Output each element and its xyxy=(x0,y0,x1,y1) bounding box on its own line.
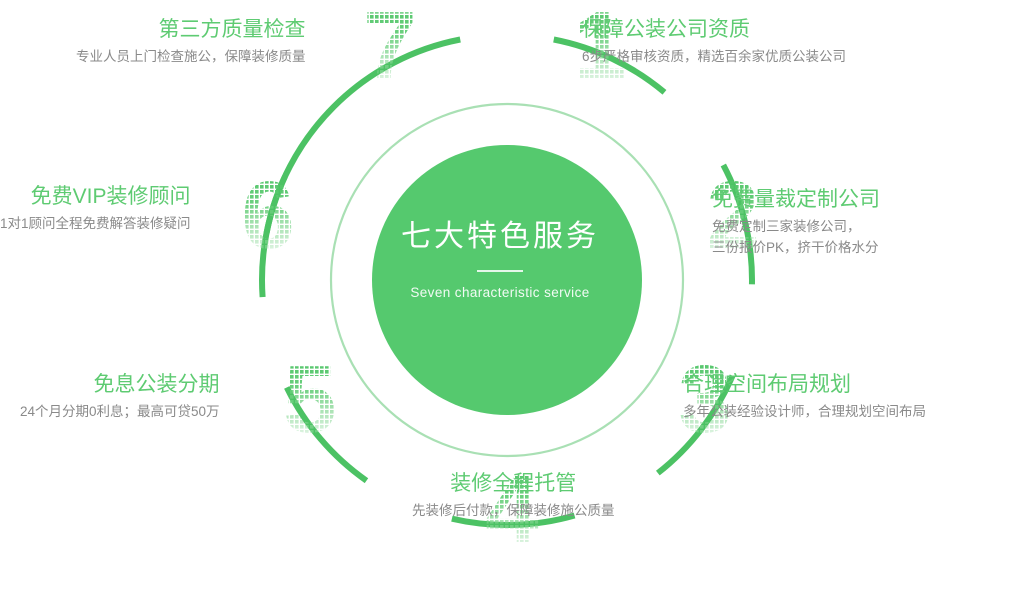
service-item-2-texts: 免费量裁定制公司 免费定制三家装修公司，三份报价PK，挤干价格水分 xyxy=(712,178,880,259)
service-item-3-title: 合理空间布局规划 xyxy=(683,373,926,397)
service-item-2-desc-line-2: 三份报价PK，挤干价格水分 xyxy=(712,238,880,259)
service-item-4-desc: 先装修后付款，保障装修施公质量 xyxy=(412,501,615,522)
service-item-1-desc: 6步严格审核资质，精选百余家优质公装公司 xyxy=(582,47,846,68)
service-item-6-texts: 免费VIP装修顾问 1对1顾问全程免费解答装修疑问 xyxy=(0,175,191,235)
service-item-7-texts: 第三方质量检查 专业人员上门检查施公，保障装修质量 xyxy=(76,8,306,68)
service-item-6[interactable]: 免费VIP装修顾问 1对1顾问全程免费解答装修疑问 xyxy=(0,175,191,235)
service-item-7-desc-line-1: 专业人员上门检查施公，保障装修质量 xyxy=(76,47,306,68)
service-item-7[interactable]: 第三方质量检查 专业人员上门检查施公，保障装修质量 xyxy=(76,8,306,68)
service-item-5-title: 免息公装分期 xyxy=(20,373,220,397)
service-item-7-desc: 专业人员上门检查施公，保障装修质量 xyxy=(76,47,306,68)
halftone-numeral-6-icon: 6 xyxy=(241,162,294,269)
service-item-4-texts: 装修全程托管 先装修后付款，保障装修施公质量 xyxy=(412,472,615,522)
service-item-3-texts: 合理空间布局规划 多年公装经验设计师，合理规划空间布局 xyxy=(683,363,926,423)
service-item-3-desc-line-1: 多年公装经验设计师，合理规划空间布局 xyxy=(683,402,926,423)
service-item-7-title: 第三方质量检查 xyxy=(76,18,306,42)
service-item-3[interactable]: 合理空间布局规划 多年公装经验设计师，合理规划空间布局 xyxy=(683,363,926,423)
halftone-numeral-5-icon: 5 xyxy=(283,346,336,453)
service-item-2-title: 免费量裁定制公司 xyxy=(712,188,880,212)
service-item-6-desc: 1对1顾问全程免费解答装修疑问 xyxy=(0,214,191,235)
service-item-2[interactable]: 免费量裁定制公司 免费定制三家装修公司，三份报价PK，挤干价格水分 xyxy=(712,178,880,259)
halftone-numeral-7-icon: 7 xyxy=(363,0,416,99)
service-item-5-desc: 24个月分期0利息；最高可贷50万 xyxy=(20,402,220,423)
service-item-1-texts: 保障公装公司资质 6步严格审核资质，精选百余家优质公装公司 xyxy=(582,8,846,68)
service-item-6-desc-line-1: 1对1顾问全程免费解答装修疑问 xyxy=(0,214,191,235)
service-item-6-title: 免费VIP装修顾问 xyxy=(0,185,191,209)
service-item-2-desc-line-1: 免费定制三家装修公司， xyxy=(712,217,880,238)
service-item-2-desc: 免费定制三家装修公司，三份报价PK，挤干价格水分 xyxy=(712,217,880,259)
service-item-4-title: 装修全程托管 xyxy=(412,472,615,496)
service-item-3-desc: 多年公装经验设计师，合理规划空间布局 xyxy=(683,402,926,423)
service-item-5[interactable]: 免息公装分期 24个月分期0利息；最高可贷50万 xyxy=(20,363,220,423)
center-hub-circle xyxy=(372,145,642,415)
service-item-4-desc-line-1: 先装修后付款，保障装修施公质量 xyxy=(412,501,615,522)
service-item-4[interactable]: 装修全程托管 先装修后付款，保障装修施公质量 xyxy=(412,472,615,522)
infographic-canvas: 1234567 七大特色服务 Seven characteristic serv… xyxy=(0,0,1034,615)
service-item-1-title: 保障公装公司资质 xyxy=(582,18,846,42)
radial-ring-graphic: 1234567 xyxy=(0,0,1034,615)
service-item-5-texts: 免息公装分期 24个月分期0利息；最高可贷50万 xyxy=(20,363,220,423)
service-item-1[interactable]: 保障公装公司资质 6步严格审核资质，精选百余家优质公装公司 xyxy=(582,8,846,68)
service-item-5-desc-line-1: 24个月分期0利息；最高可贷50万 xyxy=(20,402,220,423)
service-item-1-desc-line-1: 6步严格审核资质，精选百余家优质公装公司 xyxy=(582,47,846,68)
